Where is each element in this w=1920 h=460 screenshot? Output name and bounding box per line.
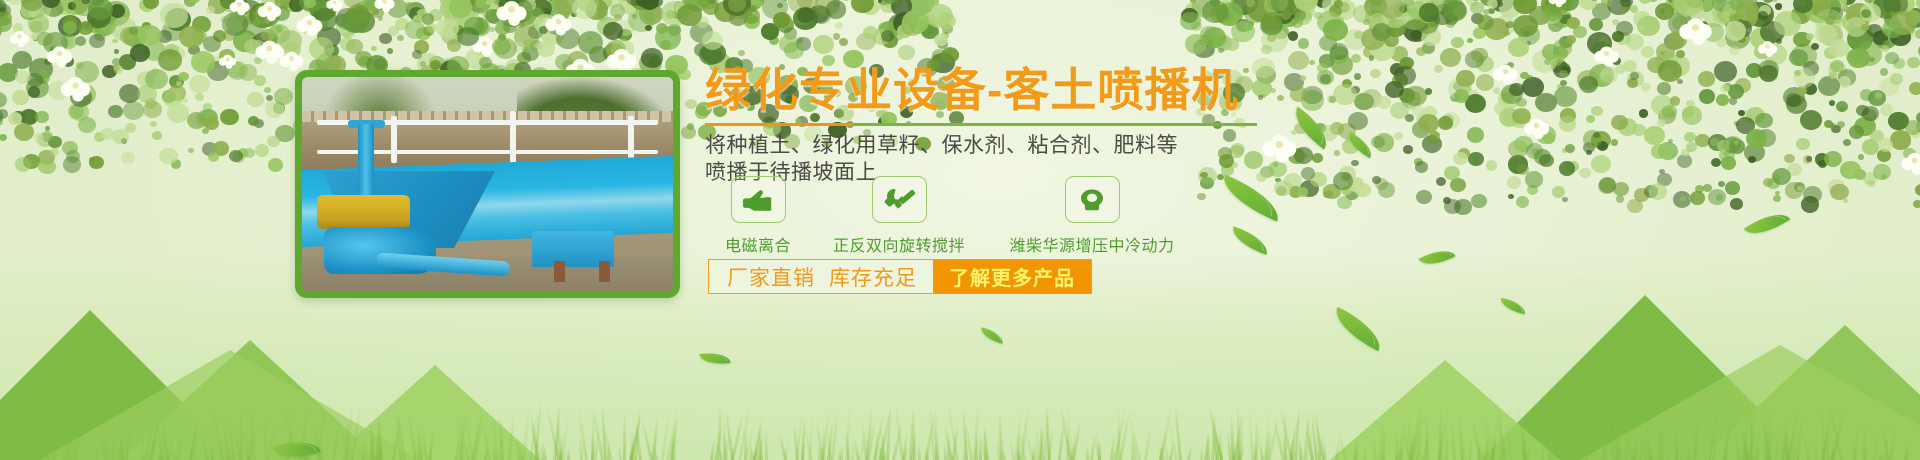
learn-more-button[interactable]: 了解更多产品 (933, 260, 1091, 293)
engine-gear-icon (1065, 176, 1120, 223)
product-photo-frame (295, 70, 680, 298)
cta-slogan-a: 厂家直销 (727, 262, 815, 292)
subtitle-line-1: 将种植土、绿化用草籽、保水剂、粘合剂、肥料等 (705, 133, 1485, 160)
feature-label-3: 潍柴华源增压中冷动力 (987, 232, 1197, 256)
thumbs-up-icon (731, 176, 786, 223)
cta-bar: 厂家直销 库存充足 了解更多产品 (708, 259, 1092, 294)
wrench-screwdriver-icon (872, 176, 927, 223)
cta-slogan: 厂家直销 库存充足 (709, 260, 933, 293)
feature-item-2: 正反双向旋转搅拌 (811, 176, 987, 256)
feature-list: 电磁离合 正反双向旋转搅拌 潍柴华源增压中冷动力 (705, 176, 1197, 256)
product-photo (302, 77, 673, 291)
page-title: 绿化专业设备-客土喷播机 (705, 66, 1485, 115)
headline-block: 绿化专业设备-客土喷播机 将种植土、绿化用草籽、保水剂、粘合剂、肥料等 喷播于待… (705, 66, 1485, 187)
feature-item-1: 电磁离合 (705, 176, 811, 256)
title-divider (705, 123, 1257, 126)
feature-item-3: 潍柴华源增压中冷动力 (987, 176, 1197, 256)
feature-label-2: 正反双向旋转搅拌 (811, 232, 987, 256)
cta-slogan-b: 库存充足 (829, 262, 917, 292)
feature-label-1: 电磁离合 (705, 232, 811, 256)
promo-banner: 绿化专业设备-客土喷播机 将种植土、绿化用草籽、保水剂、粘合剂、肥料等 喷播于待… (0, 0, 1920, 460)
